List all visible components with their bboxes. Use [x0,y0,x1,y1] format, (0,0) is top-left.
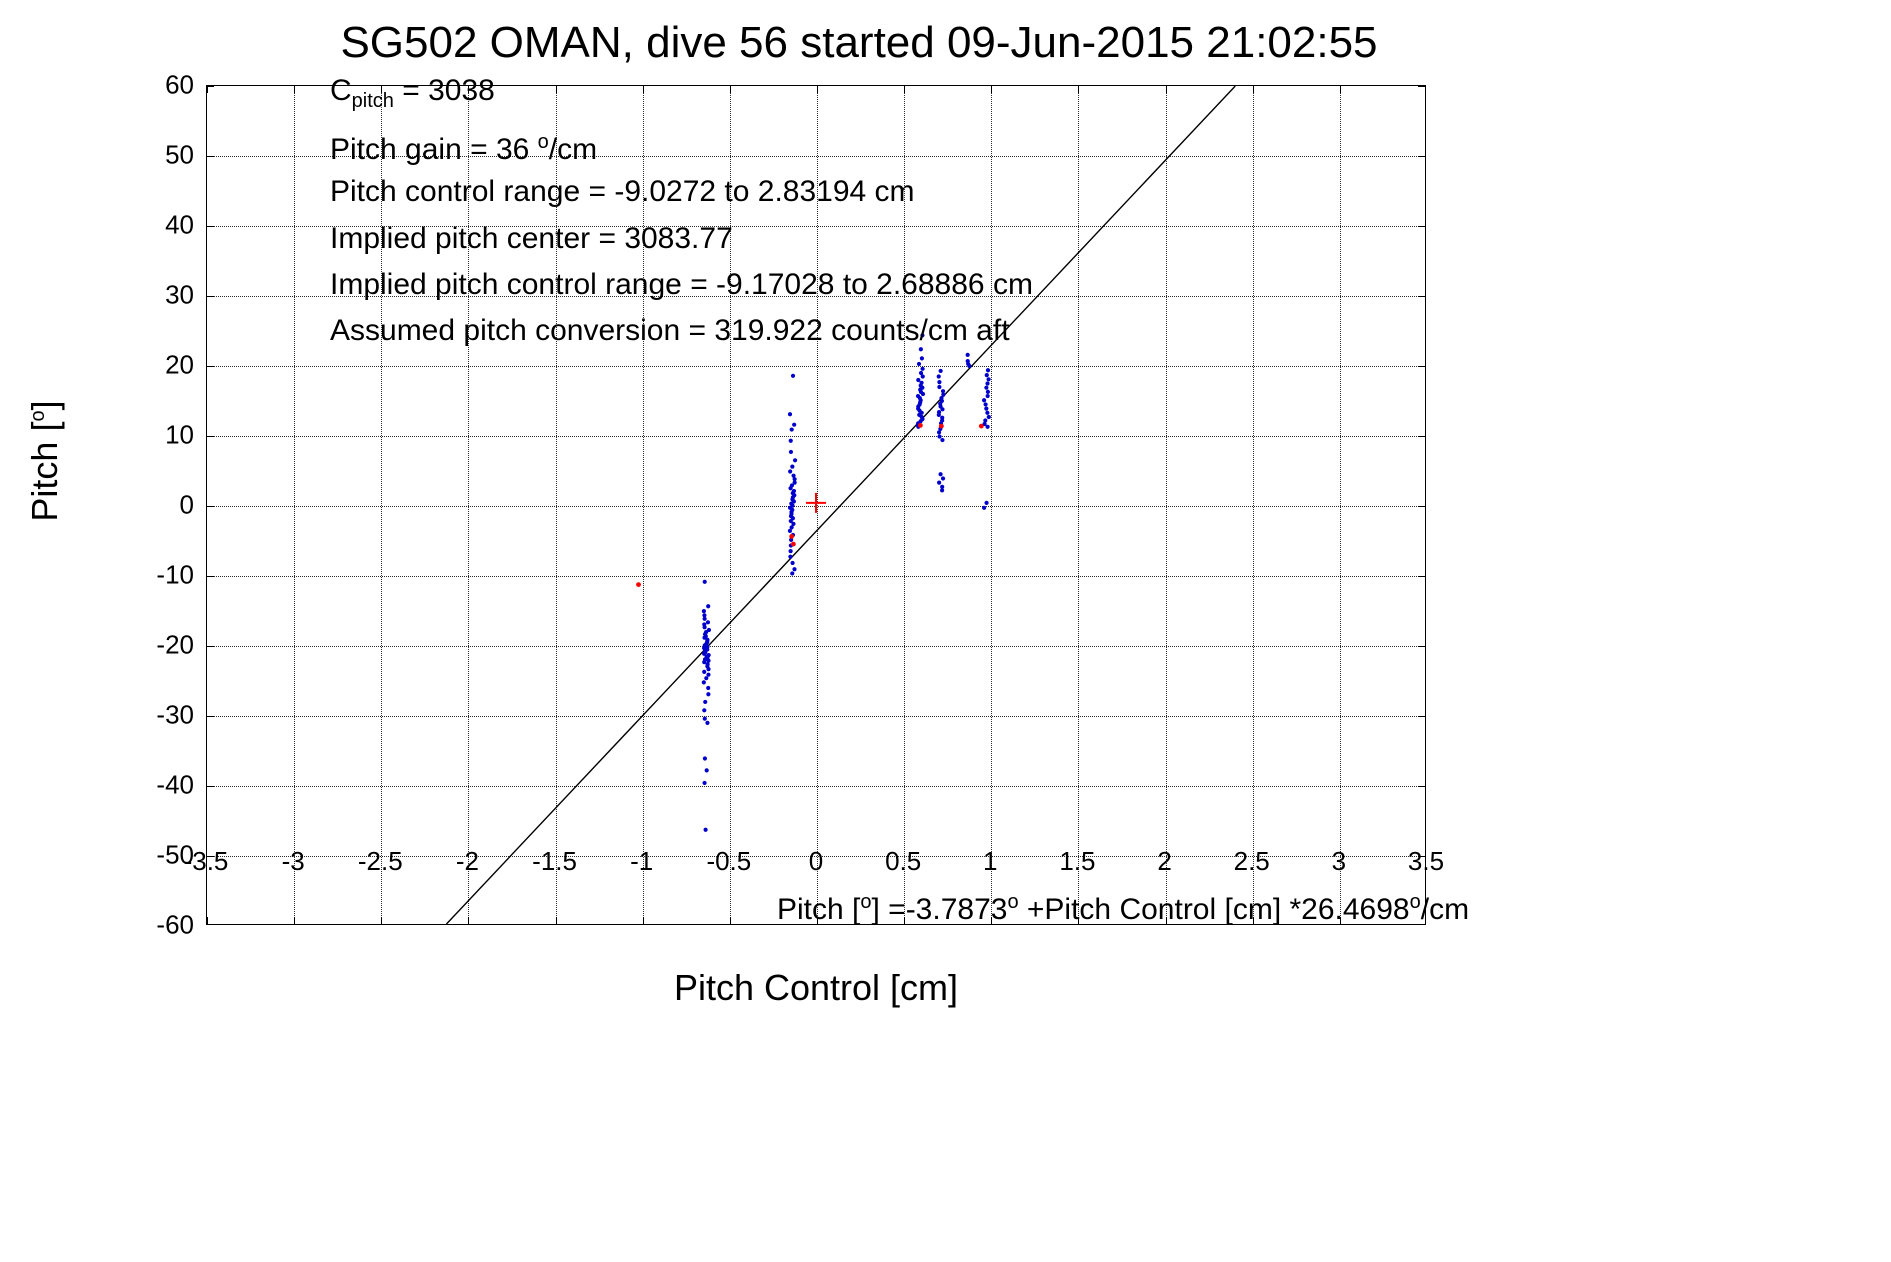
data-point [703,700,707,704]
data-point [790,571,794,575]
data-point [791,374,795,378]
chart-title: SG502 OMAN, dive 56 started 09-Jun-2015 … [0,18,1718,68]
data-point [706,604,710,608]
data-point [788,486,792,490]
y-tick-label: 60 [110,70,194,101]
data-point [920,356,924,360]
data-point [985,425,989,429]
data-point [967,364,971,368]
data-point [982,398,986,402]
data-point [920,367,924,371]
data-point [704,676,708,680]
annotation-assumed-pitch-conversion: Assumed pitch conversion = 319.922 count… [330,316,1010,346]
x-tick-label: 3.5 [1408,846,1444,877]
data-point [979,424,984,429]
data-point [939,369,943,373]
pitch-gain-text: Pitch gain = 36 [330,133,538,166]
degree-symbol-eq1: o [860,891,871,913]
x-tick-label: 2.5 [1234,846,1270,877]
data-point [706,620,710,624]
x-tick-label: -2 [456,846,479,877]
series-observed-pitch-blue- [702,333,991,832]
series-pitch-center-marker-red-plus- [806,493,826,513]
x-tick-label: 1.5 [1059,846,1095,877]
annotation-pitch-control-range: Pitch control range = -9.0272 to 2.83194… [330,177,915,207]
y-tick-label: -50 [110,840,194,871]
data-point [937,481,941,485]
y-tick-label: -40 [110,770,194,801]
data-point [702,708,706,712]
data-point [937,374,941,378]
y-tick-label: 50 [110,140,194,171]
data-point [985,381,989,385]
y-tick-label: -60 [110,910,194,941]
data-point [984,386,988,390]
data-point [937,413,941,417]
x-tick-label: -1.5 [532,846,577,877]
data-point [702,781,706,785]
data-layer [207,86,1425,924]
y-axis-label: Pitch [o] [24,111,66,811]
annotation-pitch-gain: Pitch gain = 36 o/cm [330,132,597,165]
data-point [703,756,707,760]
data-point [788,469,792,473]
data-point [788,529,792,533]
annotation-c-pitch: Cpitch = 3038 [330,76,495,111]
y-tick-label: 30 [110,280,194,311]
data-point [706,659,710,663]
data-point [790,427,794,431]
data-point [790,464,794,468]
data-point [984,407,988,411]
y-tick-label: -10 [110,560,194,591]
series-commanded-pitch-red- [636,423,984,587]
degree-symbol-gain: o [538,131,549,153]
data-point [986,368,990,372]
figure-canvas: SG502 OMAN, dive 56 started 09-Jun-2015 … [0,0,1891,1262]
y-tick-label: -30 [110,700,194,731]
data-point [937,430,941,434]
data-point [706,686,710,690]
data-point [788,555,792,559]
data-point [702,670,706,674]
data-point [793,458,797,462]
x-tick-label: 1 [983,846,997,877]
data-point [984,501,988,505]
data-point [792,567,796,571]
data-point [917,362,921,366]
c-pitch-symbol: C [330,74,352,107]
data-point [706,692,710,696]
data-point [937,434,941,438]
y-tick-label: -20 [110,630,194,661]
data-point [921,392,925,396]
data-point [789,549,793,553]
data-point [919,347,923,351]
degree-symbol-eq2: o [1007,891,1018,913]
eq-part-3: +Pitch Control [cm] *26.4698 [1019,893,1410,926]
fit-equation-annotation: Pitch [o] =-3.7873o +Pitch Control [cm] … [777,891,1469,927]
data-point [938,472,942,476]
degree-symbol-eq3: o [1410,891,1421,913]
data-point [703,717,707,721]
data-point [937,380,941,384]
y-axis-label-text: Pitch [ [24,422,65,522]
data-point [705,721,709,725]
plot-area[interactable]: Pitch [o] =-3.7873o +Pitch Control [cm] … [206,85,1426,925]
data-point [704,828,708,832]
plot-inner [207,86,1425,924]
eq-part-4: /cm [1421,893,1469,926]
x-tick-label: 3 [1332,846,1346,877]
data-point [966,353,970,357]
x-tick-label: -2.5 [358,846,403,877]
data-point [916,378,920,382]
fit-line [446,86,1235,924]
data-point [986,390,990,394]
data-point [792,423,796,427]
x-tick-label: -3 [282,846,305,877]
data-point [940,488,944,492]
c-pitch-value: = 3038 [394,74,495,107]
data-point [706,667,710,671]
y-tick-label: 10 [110,420,194,451]
data-point [940,407,944,411]
y-axis-label-text-end: ] [24,400,65,410]
c-pitch-subscript: pitch [352,90,394,112]
data-point [705,768,709,772]
y-tick-label: 0 [110,490,194,521]
data-point [918,423,923,428]
data-point [789,450,793,454]
x-tick-label: 2 [1157,846,1171,877]
x-tick-label: -1 [630,846,653,877]
data-point [706,673,710,677]
x-tick-label: -0.5 [706,846,751,877]
data-point [986,394,990,398]
data-point [937,385,941,389]
y-tick-label: 20 [110,350,194,381]
data-point [788,412,792,416]
data-point [636,582,641,587]
data-point [703,617,707,621]
data-point [939,424,944,429]
eq-part-2: ] =-3.7873 [872,893,1008,926]
data-point [941,476,945,480]
data-point [985,373,989,377]
data-point [789,439,793,443]
data-point [940,438,944,442]
annotation-implied-pitch-control-range: Implied pitch control range = -9.17028 t… [330,270,1033,300]
data-point [921,374,925,378]
data-point [789,534,794,539]
data-point [702,680,706,684]
degree-symbol-y: o [27,410,49,421]
data-point [982,506,986,510]
data-point [983,418,987,422]
data-point [790,561,794,565]
pitch-gain-units: /cm [549,133,597,166]
data-point [986,377,990,381]
data-point [791,542,796,547]
eq-part-1: Pitch [ [777,893,860,926]
data-point [984,402,988,406]
data-point [703,580,707,584]
y-tick-label: 40 [110,210,194,241]
x-tick-label: 0 [809,846,823,877]
x-tick-label: 0.5 [885,846,921,877]
annotation-implied-pitch-center: Implied pitch center = 3083.77 [330,224,733,254]
data-point [985,411,989,415]
data-point [987,415,991,419]
data-point [703,625,707,629]
x-axis-label: Pitch Control [cm] [206,967,1426,1009]
data-point [702,609,706,613]
